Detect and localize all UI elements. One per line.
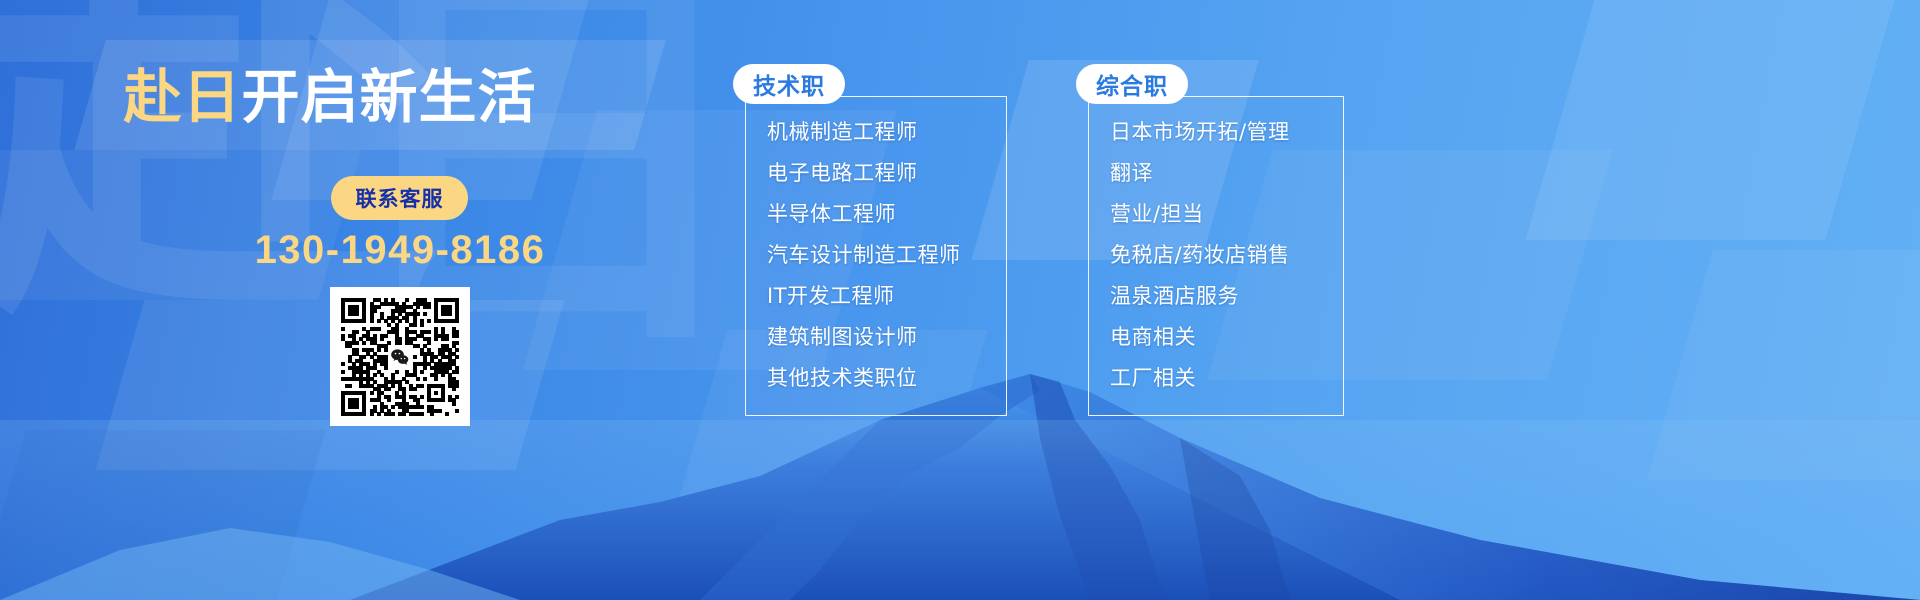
deco-shape: [1647, 250, 1920, 480]
list-item[interactable]: 电商相关: [1110, 317, 1290, 358]
qr-code-panel[interactable]: [330, 287, 470, 426]
list-item[interactable]: 半导体工程师: [767, 194, 961, 235]
page-title: 赴日开启新生活: [0, 50, 660, 134]
list-item[interactable]: 机械制造工程师: [767, 112, 961, 153]
promo-left-block: 赴日开启新生活 联系客服 130-1949-8186: [0, 0, 660, 600]
headline-main: 开启新生活: [242, 63, 537, 131]
job-list-general: 日本市场开拓/管理 翻译 营业/担当 免税店/药妆店销售 温泉酒店服务 电商相关…: [1110, 112, 1290, 399]
list-item[interactable]: 电子电路工程师: [767, 153, 961, 194]
list-item[interactable]: 工厂相关: [1110, 358, 1290, 399]
list-item[interactable]: 免税店/药妆店销售: [1110, 235, 1290, 276]
contact-support-button[interactable]: 联系客服: [331, 176, 468, 220]
list-item[interactable]: 建筑制图设计师: [767, 317, 961, 358]
list-item[interactable]: 温泉酒店服务: [1110, 276, 1290, 317]
list-item[interactable]: IT开发工程师: [767, 276, 961, 317]
list-item[interactable]: 营业/担当: [1110, 194, 1290, 235]
badge-general[interactable]: 综合职: [1076, 64, 1188, 104]
headline-accent: 赴日: [123, 63, 241, 131]
badge-technical[interactable]: 技术职: [733, 64, 845, 104]
qr-code-image: [341, 298, 459, 416]
list-item[interactable]: 其他技术类职位: [767, 358, 961, 399]
list-item[interactable]: 日本市场开拓/管理: [1110, 112, 1290, 153]
banner-root: 赴 日: [0, 0, 1920, 600]
deco-shape: [1526, 0, 1895, 240]
list-item[interactable]: 翻译: [1110, 153, 1290, 194]
wechat-icon: [388, 345, 412, 369]
job-list-technical: 机械制造工程师 电子电路工程师 半导体工程师 汽车设计制造工程师 IT开发工程师…: [767, 112, 961, 399]
phone-number[interactable]: 130-1949-8186: [0, 228, 800, 273]
list-item[interactable]: 汽车设计制造工程师: [767, 235, 961, 276]
